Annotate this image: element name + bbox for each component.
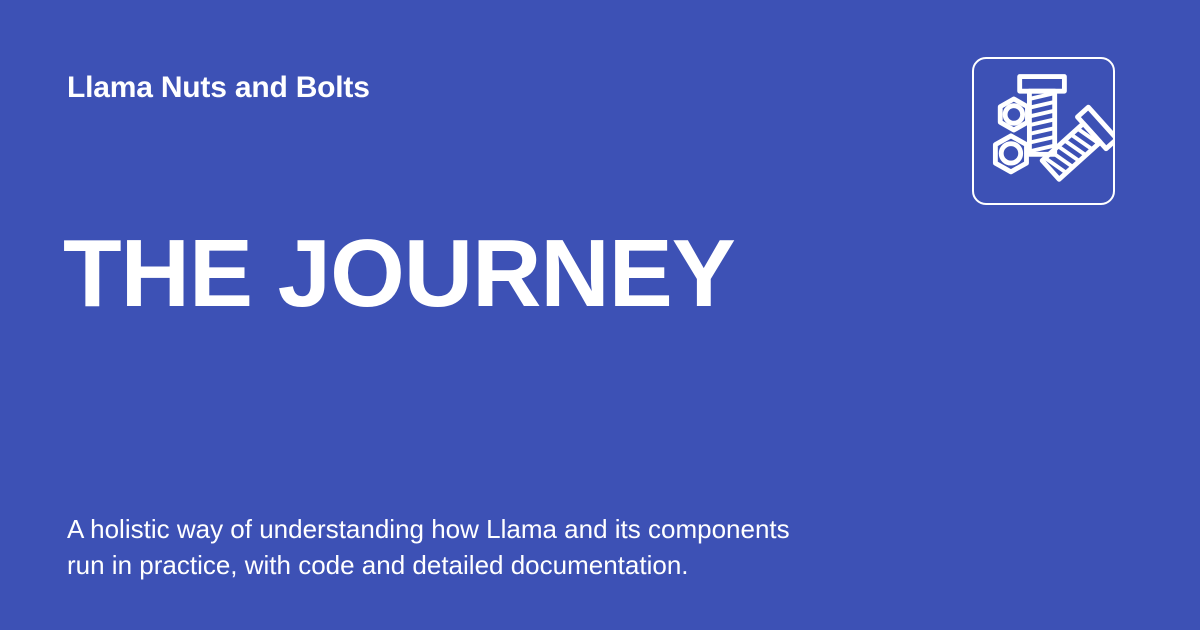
hex-nut-upper-icon [1000, 99, 1027, 130]
nuts-and-bolts-icon [974, 59, 1113, 203]
project-name: Llama Nuts and Bolts [67, 70, 370, 106]
subtitle-line-2: run in practice, with code and detailed … [67, 547, 927, 583]
og-banner: Llama Nuts and Bolts THE JOURNEY A holis… [0, 0, 1200, 630]
subtitle: A holistic way of understanding how Llam… [67, 511, 927, 583]
subtitle-line-1: A holistic way of understanding how Llam… [67, 511, 927, 547]
hex-nut-lower-icon [995, 136, 1026, 172]
logo-frame [972, 57, 1115, 205]
page-title: THE JOURNEY [63, 224, 735, 324]
